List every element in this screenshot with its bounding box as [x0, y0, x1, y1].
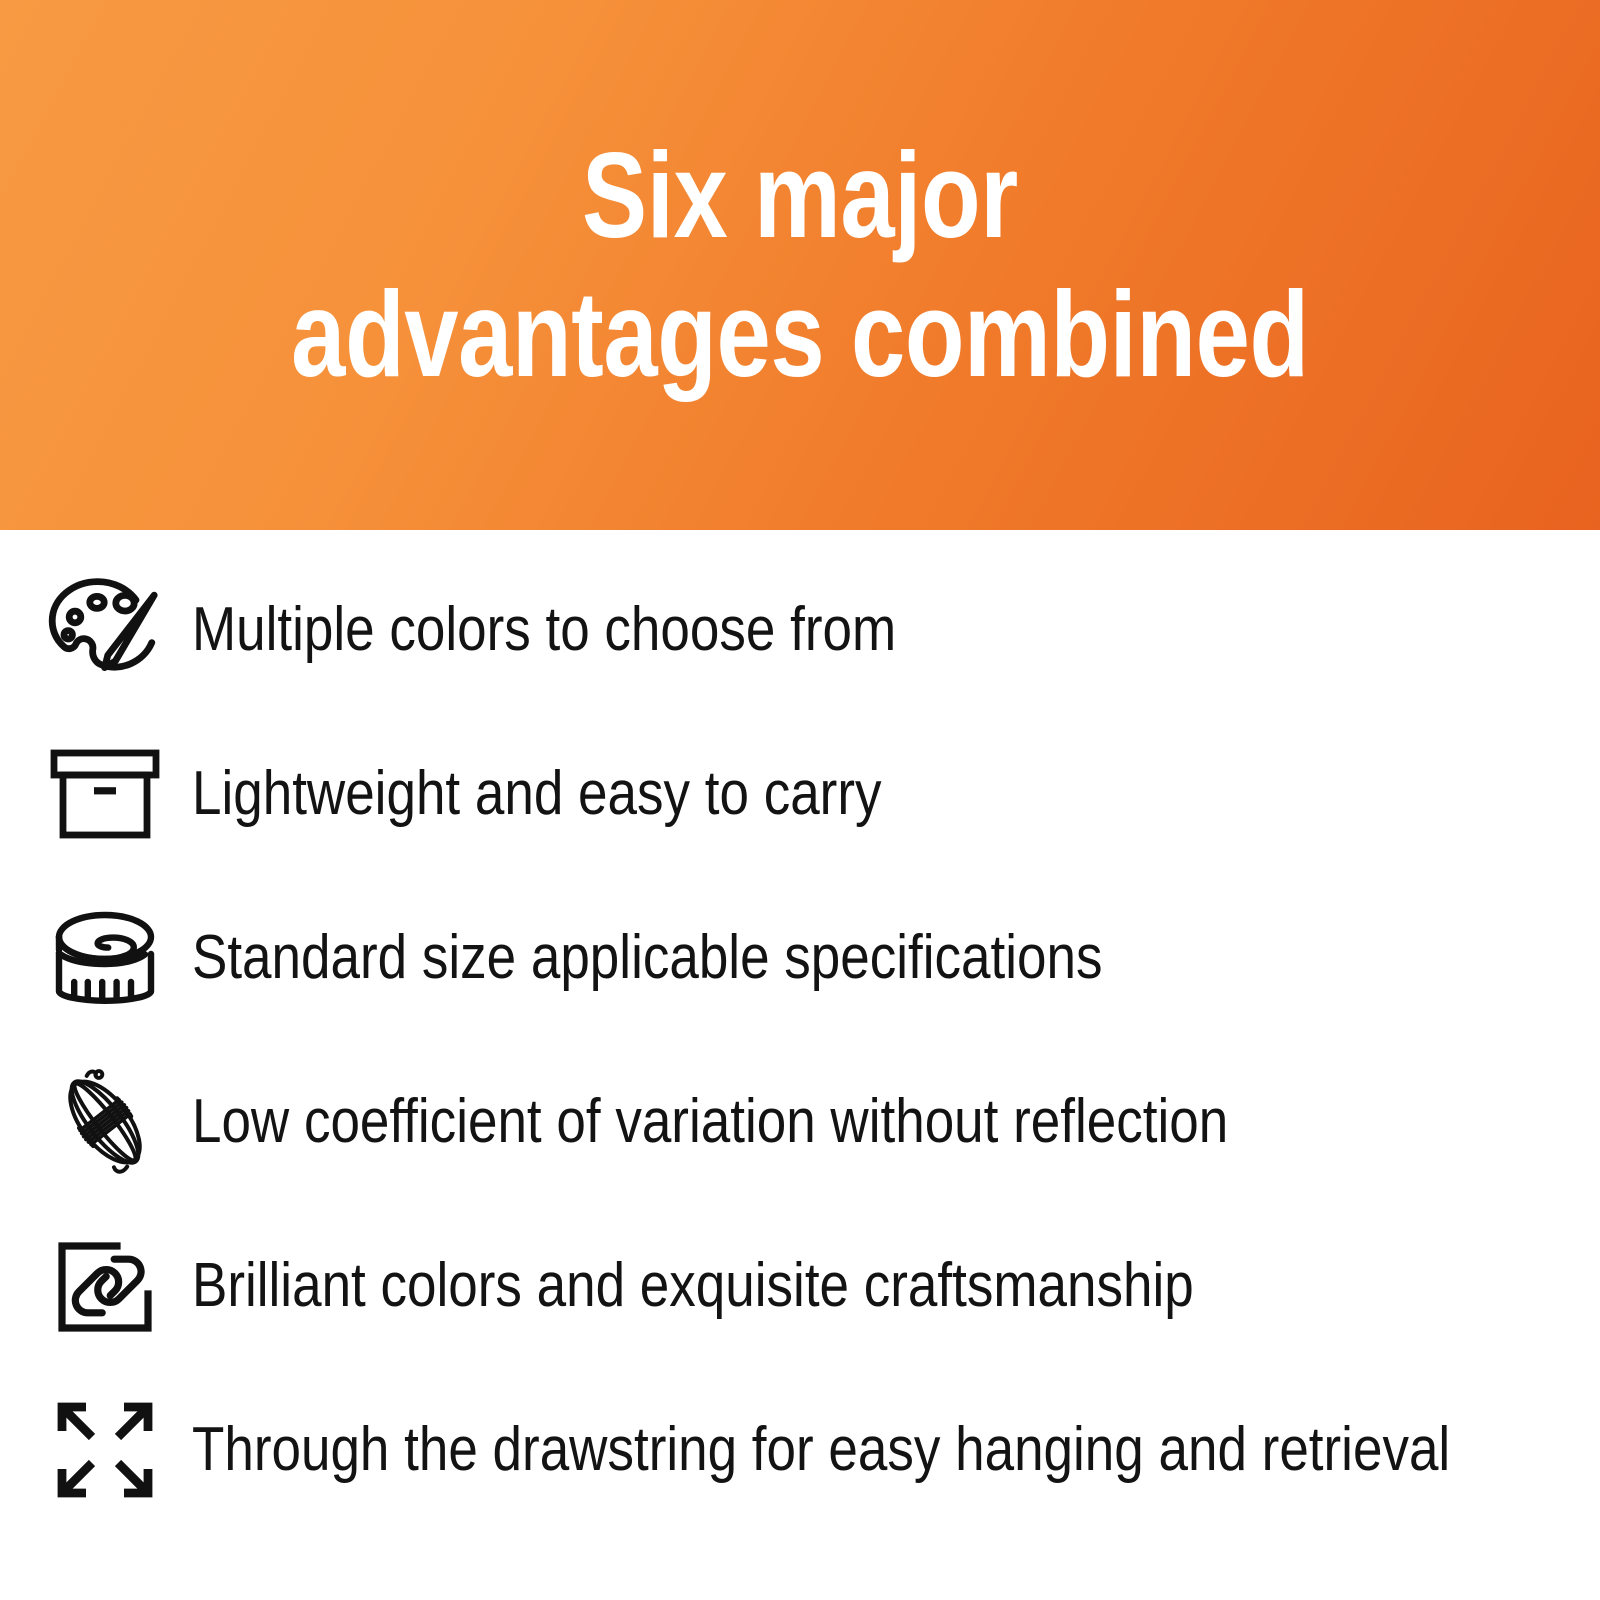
feature-label: Multiple colors to choose from	[180, 599, 1394, 661]
page-title: Six major advantages combined	[283, 126, 1316, 404]
feature-label: Brilliant colors and exquisite craftsman…	[180, 1255, 1394, 1317]
list-item: Brilliant colors and exquisite craftsman…	[0, 1204, 1600, 1368]
list-item: Through the drawstring for easy hanging …	[0, 1368, 1600, 1532]
feature-label: Through the drawstring for easy hanging …	[180, 1419, 1450, 1481]
list-item: Low coefficient of variation without ref…	[0, 1040, 1600, 1204]
header-banner: Six major advantages combined	[0, 0, 1600, 530]
promo-infographic-page: Six major advantages combined Multiple c…	[0, 0, 1600, 1600]
link-in-square-icon	[30, 1220, 180, 1352]
feature-label: Lightweight and easy to carry	[180, 763, 1394, 825]
list-item: Multiple colors to choose from	[0, 548, 1600, 712]
paint-palette-icon	[30, 564, 180, 696]
feature-label: Low coefficient of variation without ref…	[180, 1091, 1394, 1153]
list-item: Lightweight and easy to carry	[0, 712, 1600, 876]
storage-box-icon	[30, 728, 180, 860]
feature-list: Multiple colors to choose from Lightweig…	[0, 530, 1600, 1600]
feature-label: Standard size applicable specifications	[180, 927, 1394, 989]
expand-arrows-icon	[30, 1384, 180, 1516]
measuring-tape-icon	[30, 892, 180, 1024]
coiled-rope-icon	[30, 1056, 180, 1188]
list-item: Standard size applicable specifications	[0, 876, 1600, 1040]
